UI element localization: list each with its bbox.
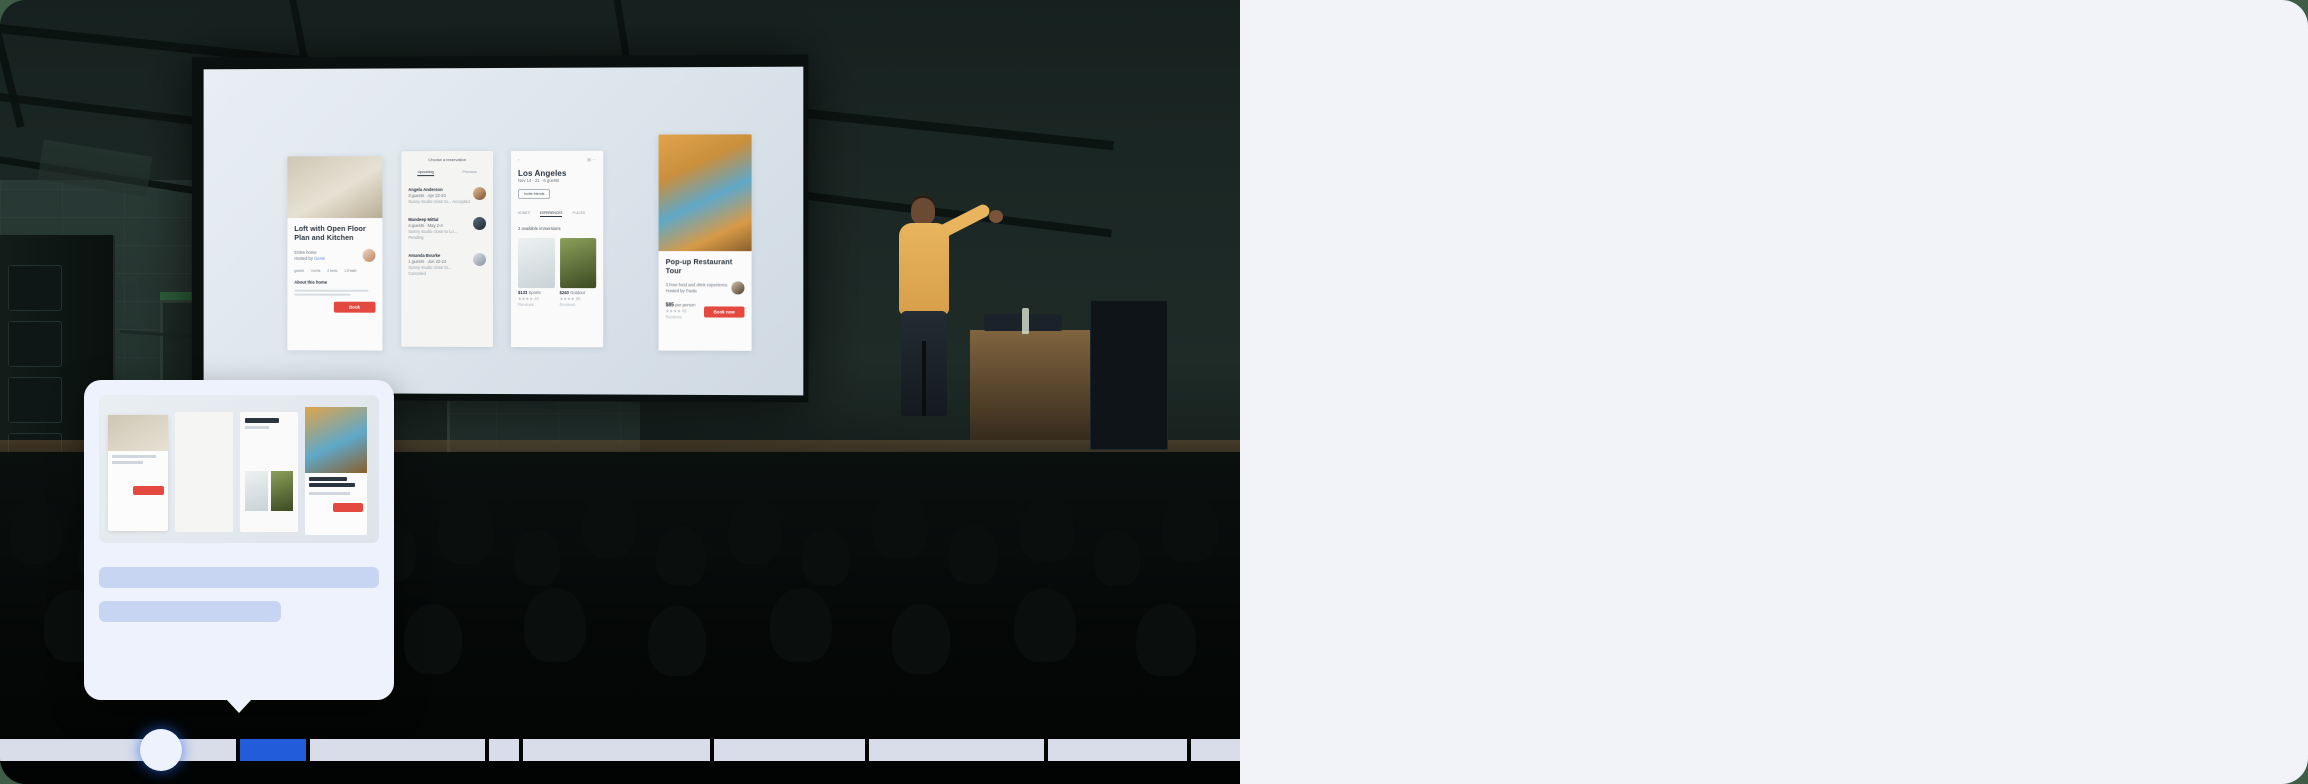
tab-previous[interactable]: Previous xyxy=(463,170,477,176)
projector-screen: Loft with Open Floor Plan and Kitchen En… xyxy=(192,55,809,403)
scrubber-handle[interactable] xyxy=(140,729,182,771)
preview-placeholder-bar xyxy=(99,567,379,588)
scrubber-segment[interactable] xyxy=(310,739,485,761)
water-bottle xyxy=(1022,308,1029,334)
avatar xyxy=(473,253,486,266)
speaker-person xyxy=(865,198,985,448)
video-scrubber[interactable] xyxy=(0,739,1240,761)
invite-friends-button[interactable]: Invite friends xyxy=(518,189,550,199)
stage-speaker-box xyxy=(1090,300,1168,450)
slide-card-city: ‹ ▤ ··· Los Angeles Nov 14 - 21 · 6 gues… xyxy=(511,151,603,348)
tab-experiences[interactable]: EXPERIENCES xyxy=(540,211,563,217)
scrubber-segment[interactable] xyxy=(1191,739,1240,761)
video-player[interactable]: Loft with Open Floor Plan and Kitchen En… xyxy=(0,0,1240,784)
scrubber-segment[interactable] xyxy=(1048,739,1187,761)
podium-table xyxy=(970,330,1090,440)
book-button[interactable]: Book xyxy=(334,302,376,313)
scrubber-segment[interactable] xyxy=(523,739,711,761)
scrubber-segment[interactable] xyxy=(489,739,518,761)
scrubber-segment[interactable] xyxy=(714,739,865,761)
scrubber-segment[interactable] xyxy=(0,739,236,761)
tab-upcoming[interactable]: Upcoming xyxy=(418,170,434,176)
slide-card-reservations: Choose a reservation Upcoming Previous A… xyxy=(401,151,493,347)
tab-places[interactable]: PLACES xyxy=(572,211,585,217)
calendar-icon[interactable]: ▤ xyxy=(587,157,591,162)
scrubber-preview-tooltip xyxy=(84,380,394,700)
avatar xyxy=(731,281,744,294)
avatar xyxy=(473,187,486,200)
presentation-slide: Loft with Open Floor Plan and Kitchen En… xyxy=(204,67,804,396)
tooltip-tail xyxy=(226,699,252,713)
tour-title: Pop-up Restaurant Tour xyxy=(666,257,745,275)
host-name: Genie xyxy=(314,255,325,260)
scrubber-segment[interactable] xyxy=(869,739,1044,761)
avatar xyxy=(363,249,376,262)
reservations-header: Choose a reservation xyxy=(408,157,486,162)
book-now-button[interactable]: Book now xyxy=(704,306,744,317)
preview-placeholder-bar xyxy=(99,601,281,622)
city-title: Los Angeles xyxy=(518,169,596,178)
avatar xyxy=(473,217,486,230)
more-icon[interactable]: ··· xyxy=(592,157,596,162)
slide-card-popup-tour: Pop-up Restaurant Tour 3 hour food and d… xyxy=(659,134,752,350)
scrubber-segment[interactable] xyxy=(240,739,306,761)
back-icon[interactable]: ‹ xyxy=(518,157,519,162)
transcript-panel: 00:00 Abstract title Accounting work has… xyxy=(1240,0,2308,784)
listing-title: Loft with Open Floor Plan and Kitchen xyxy=(294,224,375,242)
video-transcript-app: Loft with Open Floor Plan and Kitchen En… xyxy=(0,0,2308,784)
tab-homes[interactable]: HOMES xyxy=(518,211,530,217)
slide-card-listing: Loft with Open Floor Plan and Kitchen En… xyxy=(287,156,382,350)
preview-thumbnail xyxy=(99,395,379,543)
